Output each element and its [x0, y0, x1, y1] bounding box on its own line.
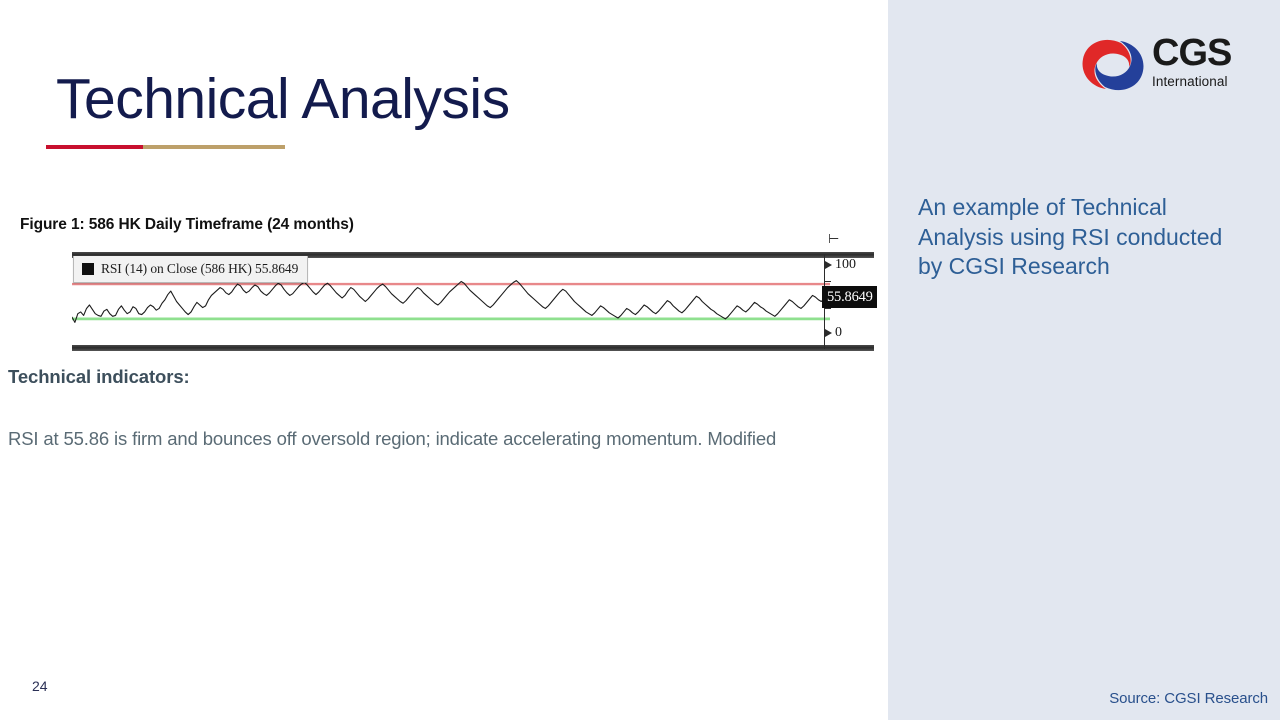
cgs-logo: CGS International [1080, 33, 1255, 101]
technical-indicators-heading: Technical indicators: [8, 366, 190, 388]
cgs-logo-text: CGS International [1152, 33, 1257, 90]
accent-rule-gold [143, 145, 285, 149]
current-value-badge: 55.8649 [822, 286, 877, 308]
axis-arrow-bottom [825, 329, 832, 337]
cgs-logo-name: CGS [1152, 33, 1257, 73]
legend-label: RSI (14) on Close (586 HK) 55.8649 [101, 261, 298, 277]
accent-rule-red [46, 145, 143, 149]
title-accent-rule [46, 145, 285, 149]
page-number: 24 [32, 678, 48, 694]
axis-arrow-top [825, 261, 832, 269]
figure-caption: Figure 1: 586 HK Daily Timeframe (24 mon… [20, 216, 354, 234]
chart-top-tick-icon: ⊢ [828, 232, 839, 245]
axis-label-bottom: 0 [835, 326, 842, 340]
axis-tick-upper [824, 281, 831, 282]
chart-frame-bottom-bar [72, 345, 874, 351]
panel-caption: An example of Technical Analysis using R… [918, 193, 1248, 282]
source-note: Source: CGSI Research [888, 690, 1280, 707]
axis-label-top: 100 [835, 258, 856, 272]
technical-indicators-paragraph: RSI at 55.86 is firm and bounces off ove… [8, 428, 858, 450]
cgs-swirl-icon [1080, 37, 1146, 93]
slide-canvas: Technical Analysis Figure 1: 586 HK Dail… [0, 0, 1280, 720]
chart-value-axis: 100 0 55.8649 [824, 252, 874, 351]
cgs-logo-subtitle: International [1152, 74, 1257, 90]
chart-legend[interactable]: RSI (14) on Close (586 HK) 55.8649 [73, 256, 308, 283]
legend-swatch-icon [82, 263, 94, 275]
side-panel: CGS International An example of Technica… [888, 0, 1280, 720]
rsi-series-line [72, 281, 830, 323]
rsi-chart: RSI (14) on Close (586 HK) 55.8649 100 0… [72, 252, 874, 351]
page-title: Technical Analysis [56, 63, 510, 135]
